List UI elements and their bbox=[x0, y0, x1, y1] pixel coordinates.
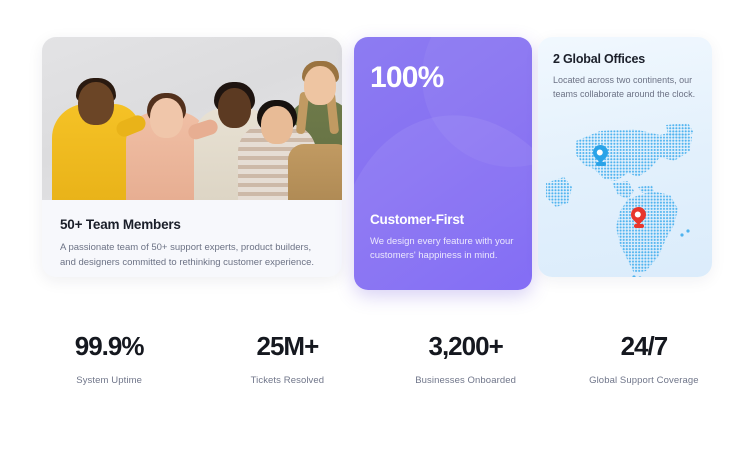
card-team-members[interactable]: 50+ Team Members A passionate team of 50… bbox=[42, 37, 342, 277]
card-customer-first[interactable]: 100% Customer-First We design every feat… bbox=[354, 37, 532, 290]
card-customer-first-description: We design every feature with your custom… bbox=[370, 235, 516, 264]
card-team-title: 50+ Team Members bbox=[60, 217, 324, 232]
stat-value: 24/7 bbox=[555, 332, 733, 361]
stat-value: 3,200+ bbox=[377, 332, 555, 361]
stat-label: Businesses Onboarded bbox=[377, 375, 555, 386]
card-global-offices-content: 2 Global Offices Located across two cont… bbox=[538, 37, 712, 102]
customer-first-stat: 100% bbox=[370, 61, 444, 95]
stat-global-support-coverage: 24/7 Global Support Coverage bbox=[555, 332, 733, 386]
card-customer-first-content: Customer-First We design every feature w… bbox=[370, 212, 516, 264]
stat-label: Tickets Resolved bbox=[198, 375, 376, 386]
stat-system-uptime: 99.9% System Uptime bbox=[20, 332, 198, 386]
team-photo-people-illustration bbox=[42, 60, 342, 200]
card-team-description: A passionate team of 50+ support experts… bbox=[60, 241, 324, 270]
card-global-offices-title: 2 Global Offices bbox=[553, 52, 697, 66]
about-stats-page: 50+ Team Members A passionate team of 50… bbox=[0, 0, 753, 450]
person-5 bbox=[288, 52, 342, 200]
feature-cards-row: 50+ Team Members A passionate team of 50… bbox=[42, 37, 712, 292]
stat-businesses-onboarded: 3,200+ Businesses Onboarded bbox=[377, 332, 555, 386]
world-map-dots-icon bbox=[542, 121, 710, 277]
card-global-offices-description: Located across two continents, our teams… bbox=[553, 74, 697, 102]
team-photo bbox=[42, 37, 342, 200]
map-pin-south-america[interactable] bbox=[631, 207, 646, 222]
card-team-content: 50+ Team Members A passionate team of 50… bbox=[42, 200, 342, 270]
stat-tickets-resolved: 25M+ Tickets Resolved bbox=[198, 332, 376, 386]
card-customer-first-title: Customer-First bbox=[370, 212, 516, 227]
stat-value: 99.9% bbox=[20, 332, 198, 361]
stat-label: Global Support Coverage bbox=[555, 375, 733, 386]
map-pin-north-america[interactable] bbox=[593, 145, 608, 160]
stat-label: System Uptime bbox=[20, 375, 198, 386]
card-global-offices[interactable]: 2 Global Offices Located across two cont… bbox=[538, 37, 712, 277]
stat-value: 25M+ bbox=[198, 332, 376, 361]
stats-row: 99.9% System Uptime 25M+ Tickets Resolve… bbox=[20, 332, 733, 386]
dotted-world-map bbox=[538, 117, 712, 277]
